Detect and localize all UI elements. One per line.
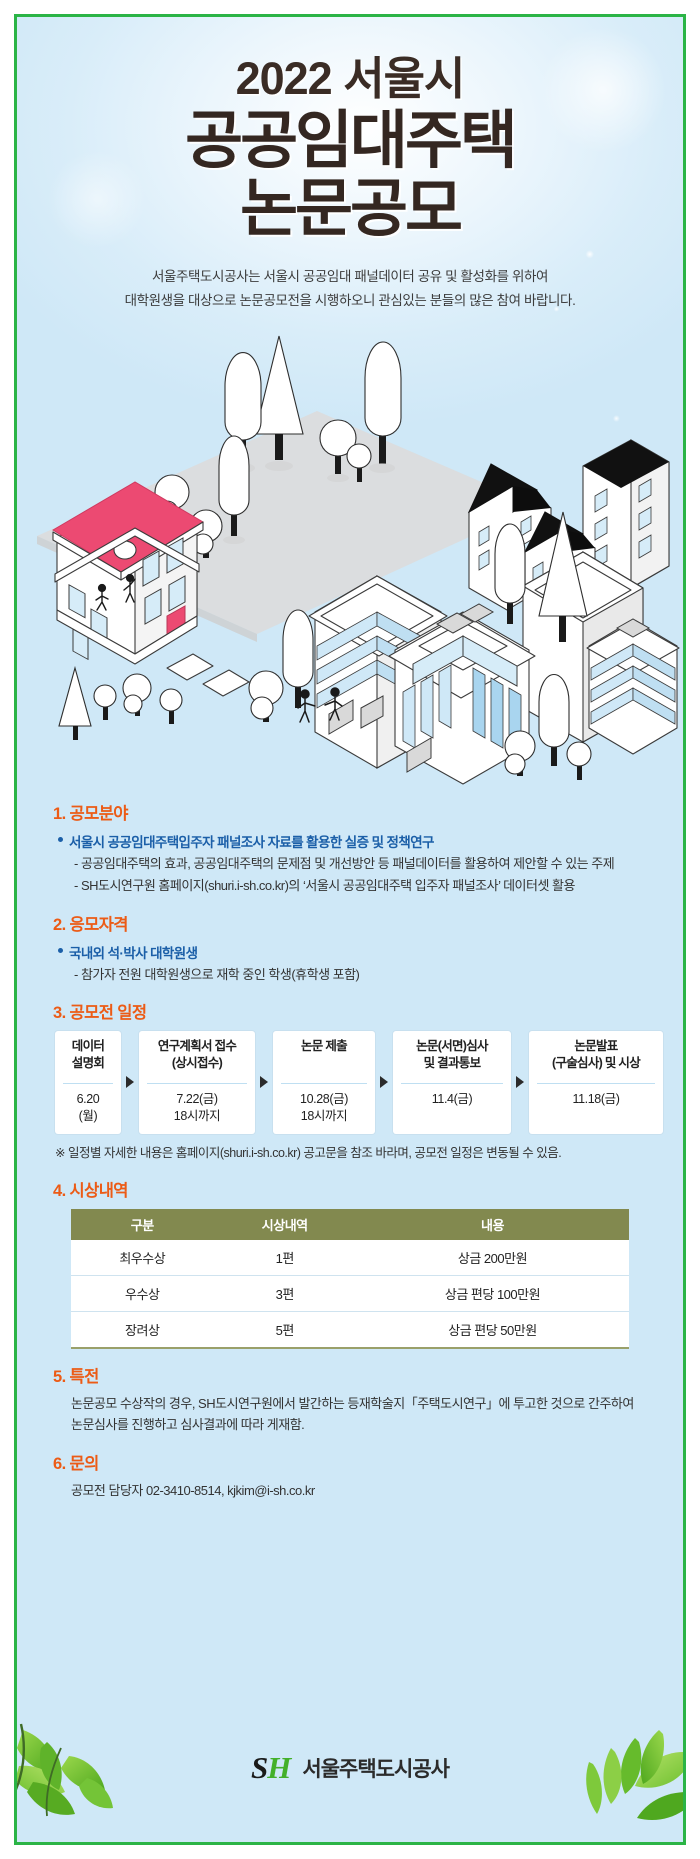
timeline-step-divider: [401, 1083, 503, 1084]
timeline-step: 논문(서면)심사및 결과통보11.4(금): [393, 1031, 511, 1134]
awards-table-cell: 상금 편당 50만원: [356, 1312, 629, 1349]
section-6-body: 공모전 담당자 02-3410-8514, kjkim@i-sh.co.kr: [71, 1481, 659, 1502]
awards-table-row: 우수상3편상금 편당 100만원: [71, 1276, 629, 1312]
awards-table-cell: 3편: [213, 1276, 355, 1312]
section-5-title: 5. 특전: [53, 1363, 659, 1387]
schedule-timeline: 데이터설명회6.20(월)연구계획서 접수(상시접수)7.22(금)18시까지논…: [55, 1031, 645, 1134]
timeline-arrow-icon: [121, 1031, 139, 1134]
awards-table-head: 구분시상내역내용: [71, 1209, 629, 1240]
awards-table-cell: 상금 200만원: [356, 1240, 629, 1276]
timeline-step-date: 7.22(금)18시까지: [141, 1091, 253, 1126]
awards-column-header: 시상내역: [213, 1209, 355, 1240]
timeline-step-title: 데이터설명회: [57, 1038, 119, 1083]
sh-logo-wrap: S H 서울주택도시공사: [251, 1750, 449, 1786]
awards-header-row: 구분시상내역내용: [71, 1209, 629, 1240]
section-2-dash-1: - 참가자 전원 대학원생으로 재학 중인 학생(휴학생 포함): [85, 965, 659, 985]
section-3-title: 3. 공모전 일정: [53, 999, 659, 1023]
headline-line-1: 공공임대주택: [17, 108, 683, 175]
timeline-step: 연구계획서 접수(상시접수)7.22(금)18시까지: [139, 1031, 255, 1134]
sh-logo-h-icon: H: [267, 1750, 291, 1786]
timeline-step: 데이터설명회6.20(월): [55, 1031, 121, 1134]
sh-logo-text: 서울주택도시공사: [302, 1753, 449, 1783]
section-1-title: 1. 공모분야: [53, 800, 659, 824]
section-2-title: 2. 응모자격: [53, 911, 659, 935]
poster-body: 1. 공모분야 서울시 공공임대주택입주자 패널조사 자료를 활용한 실증 및 …: [17, 800, 683, 1501]
section-4-title: 4. 시상내역: [53, 1177, 659, 1201]
awards-table-cell: 최우수상: [71, 1240, 213, 1276]
timeline-step-divider: [281, 1083, 367, 1084]
poster-root: 2022 서울시 공공임대주택 논문공모 서울주택도시공사는 서울시 공공임대 …: [0, 0, 700, 1859]
tree-group-house: [59, 668, 182, 740]
awards-table-cell: 장려상: [71, 1312, 213, 1349]
poster-inner: 2022 서울시 공공임대주택 논문공모 서울주택도시공사는 서울시 공공임대 …: [17, 17, 683, 1502]
awards-table-cell: 상금 편당 100만원: [356, 1276, 629, 1312]
timeline-step-date: 11.18(금): [531, 1091, 661, 1109]
timeline-step-date: 10.28(금)18시까지: [275, 1091, 373, 1126]
timeline-step: 논문 제출10.28(금)18시까지: [273, 1031, 375, 1134]
section-3-note: ※ 일정별 자세한 내용은 홈페이지(shuri.i-sh.co.kr) 공고문…: [55, 1144, 645, 1163]
awards-column-header: 내용: [356, 1209, 629, 1240]
timeline-step-title: 논문 제출: [275, 1038, 373, 1083]
sh-logo: S H 서울주택도시공사: [17, 1750, 683, 1786]
awards-table-row: 장려상5편상금 편당 50만원: [71, 1312, 629, 1349]
headline-year: 2022 서울시: [17, 55, 683, 102]
section-1-bullet: 서울시 공공임대주택입주자 패널조사 자료를 활용한 실증 및 정책연구: [69, 831, 659, 851]
lead-paragraph: 서울주택도시공사는 서울시 공공임대 패널데이터 공유 및 활성화를 위하여 대…: [70, 265, 630, 312]
timeline-arrow-icon: [255, 1031, 273, 1134]
lead-line-1: 서울주택도시공사는 서울시 공공임대 패널데이터 공유 및 활성화를 위하여: [70, 265, 630, 289]
section-1-dash-1: - 공공임대주택의 효과, 공공임대주택의 문제점 및 개선방안 등 패널데이터…: [85, 854, 659, 874]
awards-table-cell: 우수상: [71, 1276, 213, 1312]
timeline-arrow-icon: [511, 1031, 529, 1134]
timeline-arrow-icon: [375, 1031, 393, 1134]
timeline-step-divider: [537, 1083, 655, 1084]
headline-line-2: 논문공모: [17, 176, 683, 243]
timeline-step-date: 6.20(월): [57, 1091, 119, 1126]
awards-column-header: 구분: [71, 1209, 213, 1240]
section-1-dash-2: - SH도시연구원 홈페이지(shuri.i-sh.co.kr)의 ‘서울시 공…: [85, 876, 659, 896]
timeline-step-divider: [63, 1083, 113, 1084]
section-5-body: 논문공모 수상작의 경우, SH도시연구원에서 발간하는 등재학술지「주택도시연…: [71, 1394, 659, 1436]
city-illustration: .st{fill:#fff;stroke:#3b3b3b;stroke-widt…: [17, 316, 686, 786]
section-6-title: 6. 문의: [53, 1450, 659, 1474]
timeline-step-title: 논문발표(구술심사) 및 시상: [531, 1038, 661, 1083]
headline-block: 2022 서울시 공공임대주택 논문공모: [17, 17, 683, 243]
awards-table-cell: 1편: [213, 1240, 355, 1276]
timeline-step-title: 연구계획서 접수(상시접수): [141, 1038, 253, 1083]
poster-frame: 2022 서울시 공공임대주택 논문공모 서울주택도시공사는 서울시 공공임대 …: [14, 14, 686, 1845]
timeline-step-divider: [147, 1083, 247, 1084]
section-2-bullet: 국내외 석·박사 대학원생: [69, 942, 659, 962]
timeline-step-date: 11.4(금): [395, 1091, 509, 1109]
awards-table: 구분시상내역내용 최우수상1편상금 200만원우수상3편상금 편당 100만원장…: [71, 1209, 629, 1349]
awards-table-row: 최우수상1편상금 200만원: [71, 1240, 629, 1276]
awards-table-body: 최우수상1편상금 200만원우수상3편상금 편당 100만원장려상5편상금 편당…: [71, 1240, 629, 1348]
timeline-step: 논문발표(구술심사) 및 시상11.18(금): [529, 1031, 663, 1134]
timeline-step-title: 논문(서면)심사및 결과통보: [395, 1038, 509, 1083]
lead-line-2: 대학원생을 대상으로 논문공모전을 시행하오니 관심있는 분들의 많은 참여 바…: [70, 289, 630, 313]
sh-logo-s-icon: S: [251, 1750, 266, 1786]
awards-table-cell: 5편: [213, 1312, 355, 1349]
